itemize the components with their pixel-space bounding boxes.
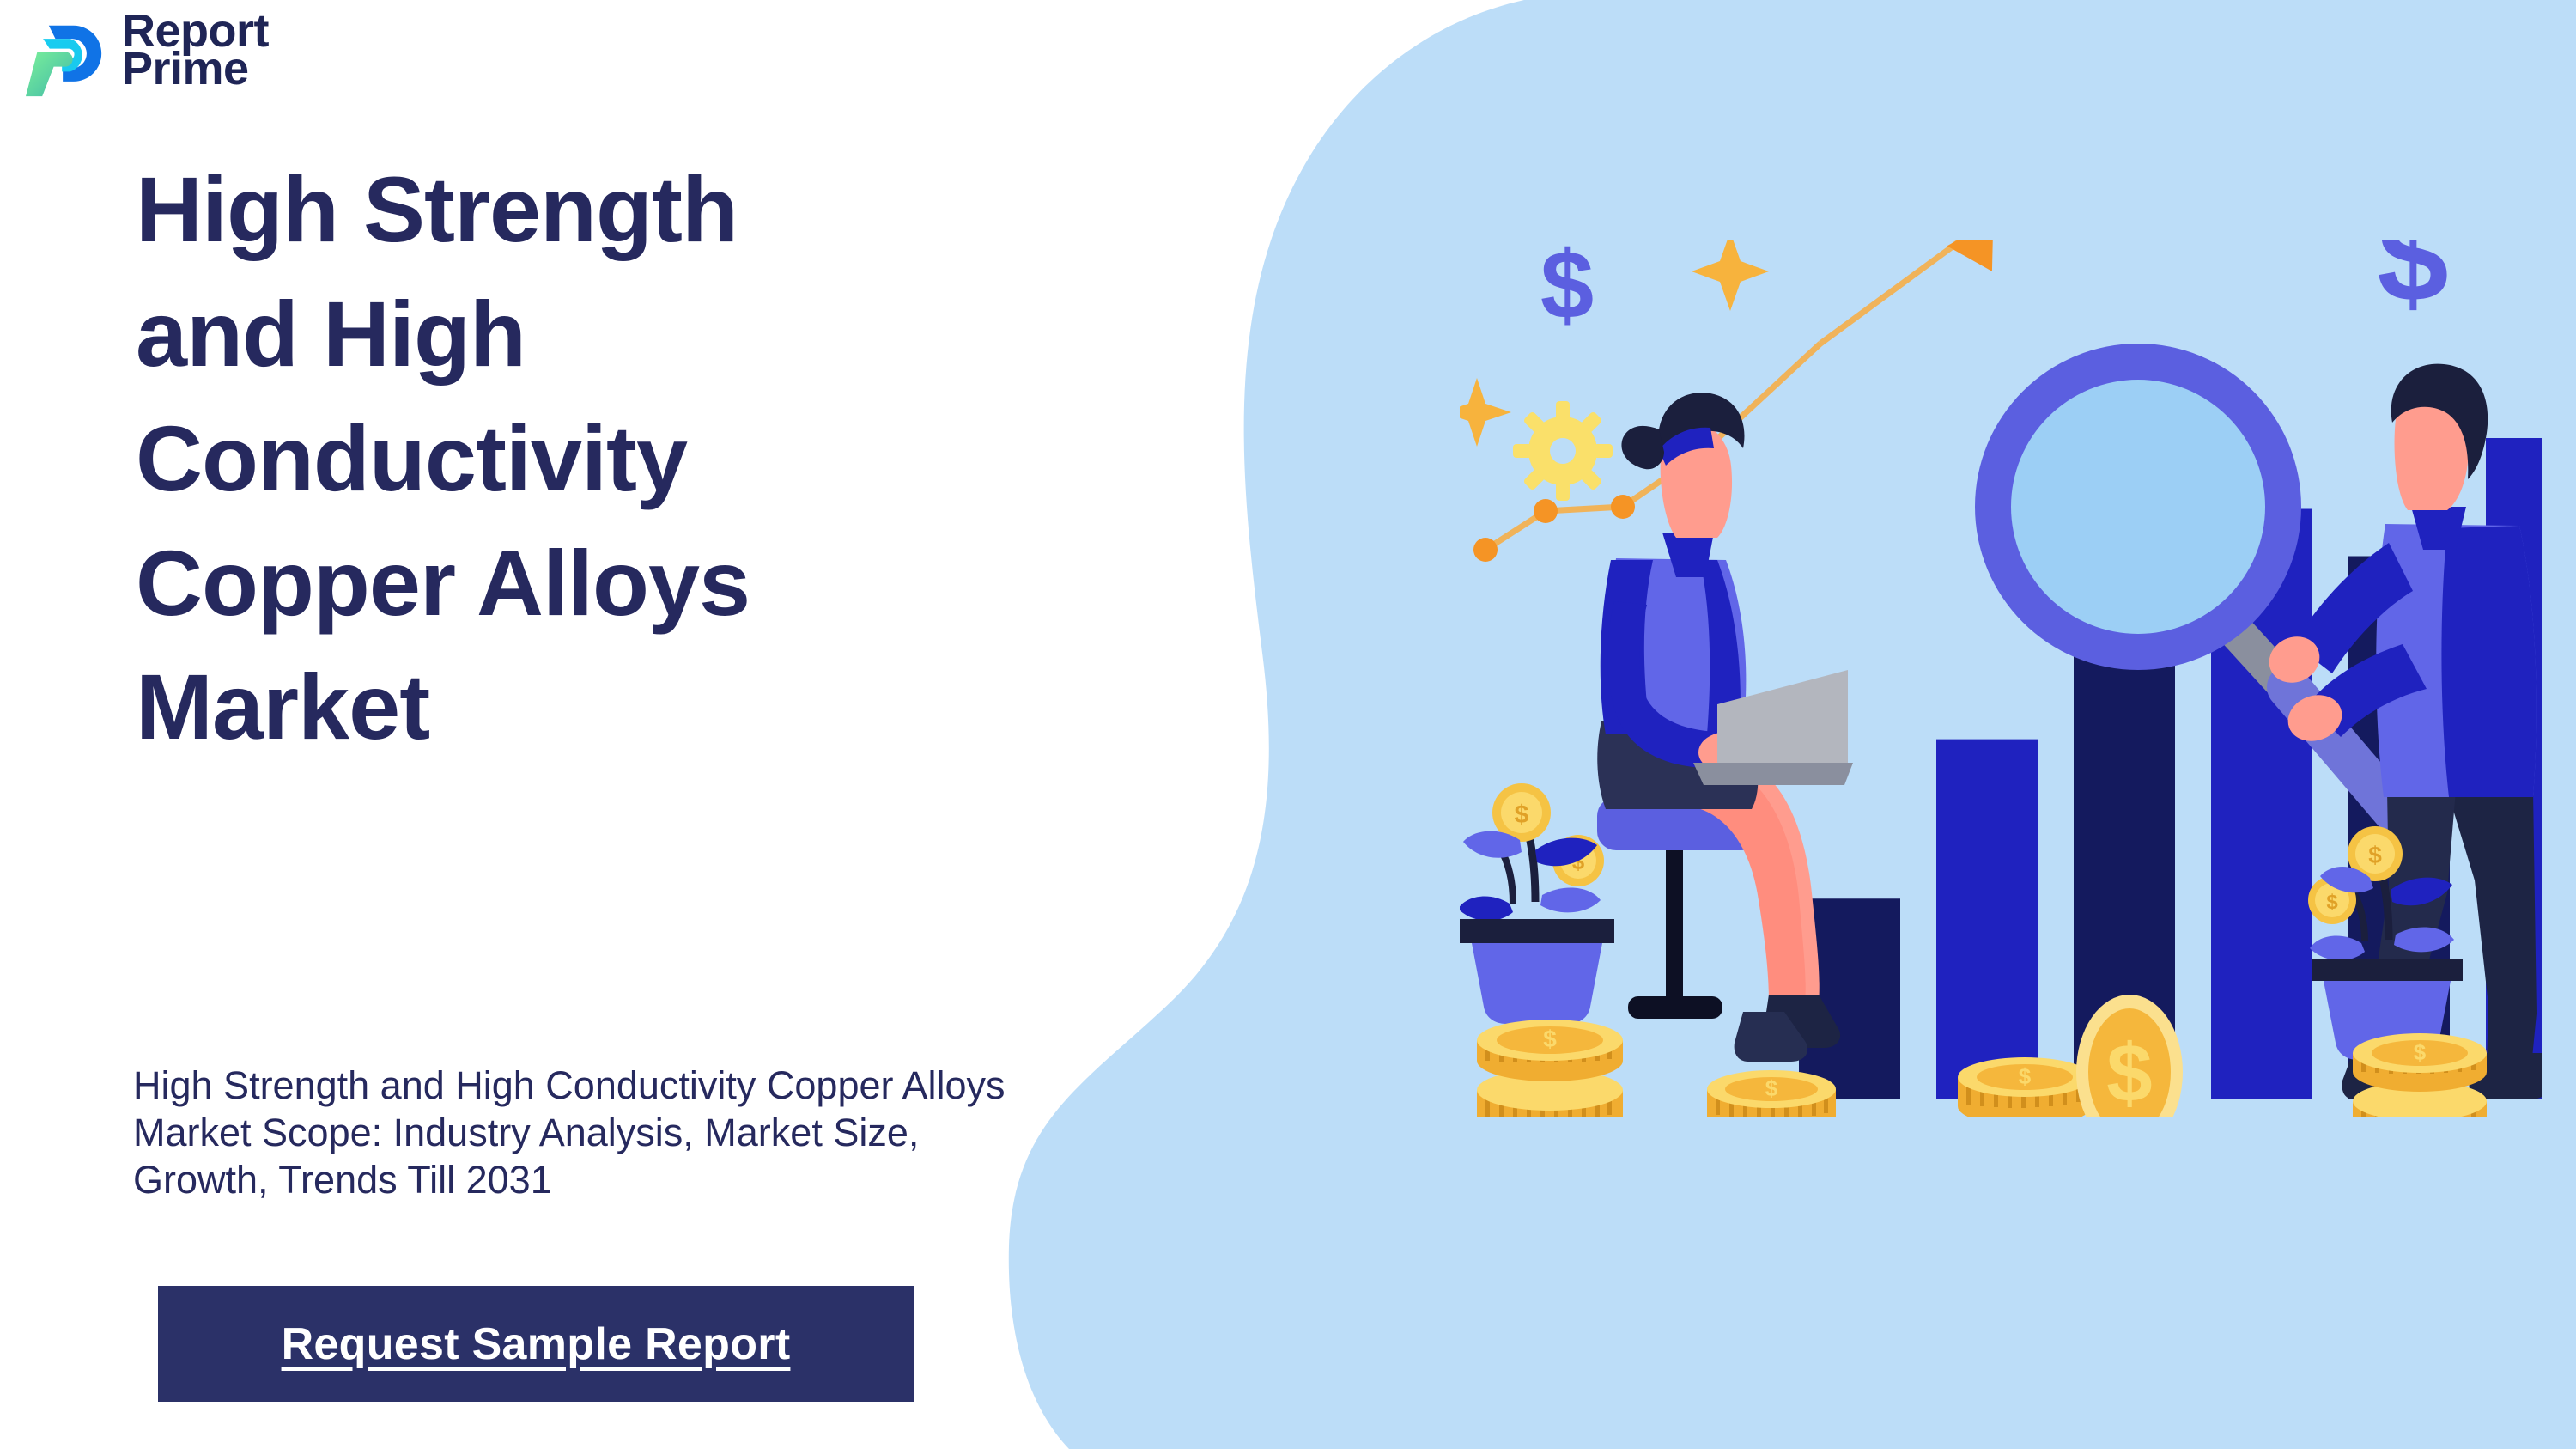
pot	[1472, 943, 1602, 1024]
woman-ponytail	[1621, 426, 1664, 469]
svg-text:$: $	[1543, 1026, 1557, 1052]
subtitle: High Strength and High Conductivity Copp…	[133, 1062, 1593, 1204]
subtitle-line-2: Market Scope: Industry Analysis, Market …	[133, 1110, 1593, 1157]
man-vest	[2441, 526, 2536, 797]
request-sample-report-label: Request Sample Report	[282, 1318, 791, 1370]
man-leg-front	[2447, 790, 2537, 1067]
money-plant-left: $ $	[1460, 783, 1614, 1024]
dollar-sign-icon-large: $	[2377, 240, 2448, 328]
svg-text:$: $	[2106, 1027, 2152, 1117]
svg-text:$: $	[2019, 1063, 2032, 1089]
sparkle-icon-1	[1692, 240, 1769, 311]
brand-name-line-2: Prime	[122, 50, 269, 88]
woman-with-laptop	[1597, 393, 1853, 1062]
page-title: High Strength and High Conductivity Copp…	[136, 165, 1355, 787]
svg-text:$: $	[2414, 1039, 2427, 1065]
dollar-sign-icon-small: $	[1540, 240, 1594, 338]
brand-wordmark: Report Prime	[122, 12, 269, 88]
banner-canvas: Report Prime High Strength and High Cond…	[0, 0, 2576, 1449]
coin-stack-3: $	[1958, 1057, 2092, 1117]
laptop-base	[1693, 763, 1853, 785]
headline-line-1: High Strength	[136, 165, 1355, 255]
request-sample-report-button[interactable]: Request Sample Report	[158, 1286, 914, 1402]
pot-rim	[2312, 959, 2463, 981]
trend-arrow-icon	[1820, 240, 2004, 344]
leaf	[1460, 896, 1513, 921]
svg-text:$: $	[1515, 801, 1529, 829]
subtitle-line-1: High Strength and High Conductivity Copp…	[133, 1062, 1593, 1110]
bar-2	[1936, 740, 2038, 1099]
headline-line-4: Copper Alloys	[136, 539, 1355, 629]
svg-text:$: $	[2368, 842, 2382, 868]
market-analysis-illustration: $ $	[1460, 240, 2542, 1117]
sparkle-icon-2	[1460, 378, 1511, 447]
svg-text:$: $	[1765, 1075, 1778, 1101]
headline-line-3: Conductivity	[136, 414, 1355, 504]
gear-icon	[1513, 401, 1613, 501]
stool-base	[1628, 996, 1722, 1019]
stool-post	[1666, 842, 1683, 1001]
brand-logo[interactable]: Report Prime	[24, 12, 428, 107]
coin-stack-4: $	[2353, 1033, 2487, 1117]
report-prime-logo-mark	[24, 21, 106, 100]
coin-stack-1: $	[1477, 1020, 1623, 1117]
pot-rim	[1460, 919, 1614, 943]
subtitle-line-3: Growth, Trends Till 2031	[133, 1157, 1593, 1204]
leaf	[1540, 887, 1601, 912]
coin-stack-2: $	[1707, 1070, 1836, 1117]
headline-line-2: and High	[136, 289, 1355, 380]
headline-line-5: Market	[136, 662, 1355, 752]
svg-text:$: $	[2326, 891, 2338, 914]
